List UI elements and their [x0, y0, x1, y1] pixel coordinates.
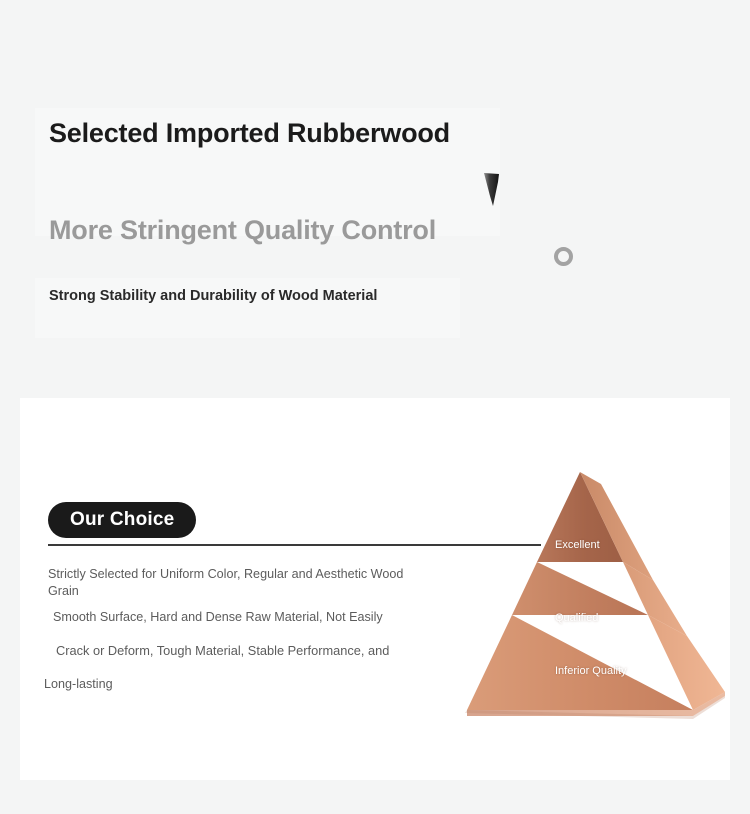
content-card: Our Choice Strictly Selected for Uniform…	[20, 398, 730, 780]
page-title: Selected Imported Rubberwood	[49, 115, 469, 151]
page-subtitle: More Stringent Quality Control	[49, 211, 589, 249]
quality-pyramid-chart: Excellent Qualified Inferior Quality	[425, 460, 735, 740]
list-item: Crack or Deform, Tough Material, Stable …	[56, 642, 389, 659]
list-item: Smooth Surface, Hard and Dense Raw Mater…	[53, 609, 383, 626]
pyramid-tier-label-inferior-quality: Inferior Quality	[555, 665, 627, 677]
pyramid-tier-label-qualified: Qualified	[555, 612, 598, 624]
pyramid-tier-label-excellent: Excellent	[555, 539, 600, 551]
ring-mark-icon	[554, 247, 573, 266]
list-item: Strictly Selected for Uniform Color, Reg…	[48, 566, 423, 600]
cone-mark-icon	[481, 172, 503, 208]
hero-section: Selected Imported Rubberwood More String…	[0, 0, 750, 398]
hero-caption: Strong Stability and Durability of Wood …	[49, 286, 429, 307]
our-choice-badge: Our Choice	[48, 502, 196, 538]
list-item: Long-lasting	[44, 676, 113, 693]
